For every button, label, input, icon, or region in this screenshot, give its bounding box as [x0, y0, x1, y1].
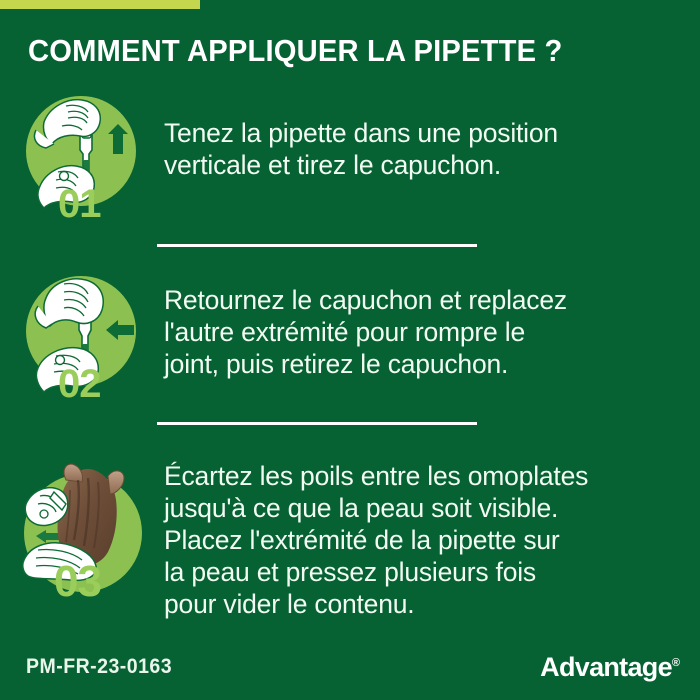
step-3-line-2: jusqu'à ce que la peau soit visible.	[164, 492, 694, 524]
step-3-text: Écartez les poils entre les omoplates ju…	[164, 460, 694, 620]
step-1-text: Tenez la pipette dans une position verti…	[164, 117, 694, 181]
divider-2	[157, 422, 477, 425]
step-1-number: 01	[58, 184, 101, 224]
page-title: COMMENT APPLIQUER LA PIPETTE ?	[28, 33, 639, 69]
document-code: PM-FR-23-0163	[26, 655, 172, 679]
step-3-line-4: la peau et pressez plusieurs fois	[164, 556, 694, 588]
brand-logo: Advantage®	[540, 652, 680, 683]
step-3-line-1: Écartez les poils entre les omoplates	[164, 460, 694, 492]
step-3-line-5: pour vider le contenu.	[164, 588, 694, 620]
step-2-line-2: l'autre extrémité pour rompre le	[164, 316, 694, 348]
divider-1	[157, 244, 477, 247]
arrow-left-icon	[36, 530, 60, 543]
step-2-line-3: joint, puis retirez le capuchon.	[164, 348, 694, 380]
step-3-number: 03	[54, 560, 101, 604]
step-2-icon-group: 02	[22, 268, 142, 398]
arrow-left-icon	[106, 320, 134, 340]
registered-trademark-icon: ®	[672, 657, 680, 669]
step-2-number: 02	[58, 364, 101, 404]
step-3-line-3: Placez l'extrémité de la pipette sur	[164, 524, 694, 556]
step-2-line-1: Retournez le capuchon et replacez	[164, 284, 694, 316]
step-1-line-2: verticale et tirez le capuchon.	[164, 149, 694, 181]
step-2-text: Retournez le capuchon et replacez l'autr…	[164, 284, 694, 380]
step-3-icon-group: 03	[22, 452, 142, 582]
step-1-icon-group: 01	[22, 88, 142, 218]
instruction-poster: COMMENT APPLIQUER LA PIPETTE ?	[0, 0, 700, 700]
step-1-line-1: Tenez la pipette dans une position	[164, 117, 694, 149]
brand-logo-name: Advantage	[540, 652, 672, 682]
top-accent-bar	[0, 0, 200, 9]
arrow-up-icon	[108, 124, 128, 154]
